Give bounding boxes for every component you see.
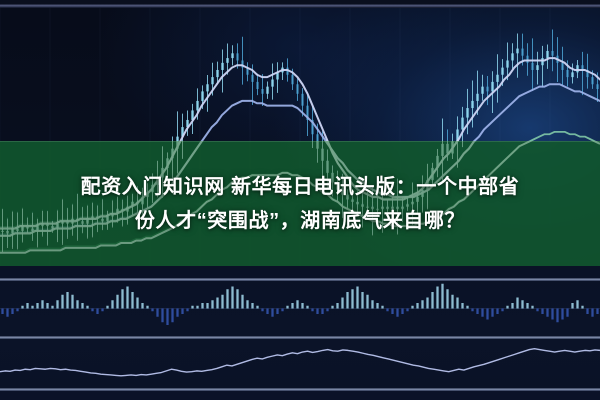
trend-indicator-svg: [0, 339, 600, 388]
headline-band-top-edge: [0, 141, 600, 142]
trend-indicator-panel: [0, 339, 600, 388]
banner-image: 配资入门知识网 新华每日电讯头版：一个中部省 份人才“突围战”，湖南底气来自哪？: [0, 0, 600, 400]
headline-band-chart-ghost: [0, 141, 600, 266]
macd-histogram-panel: [0, 281, 600, 336]
headline-band: [0, 141, 600, 266]
macd-histogram-svg: [0, 281, 600, 336]
indicator-zone: [0, 266, 600, 400]
bottom-filler: [0, 391, 600, 400]
headline-band-ghost-svg: [0, 141, 600, 266]
